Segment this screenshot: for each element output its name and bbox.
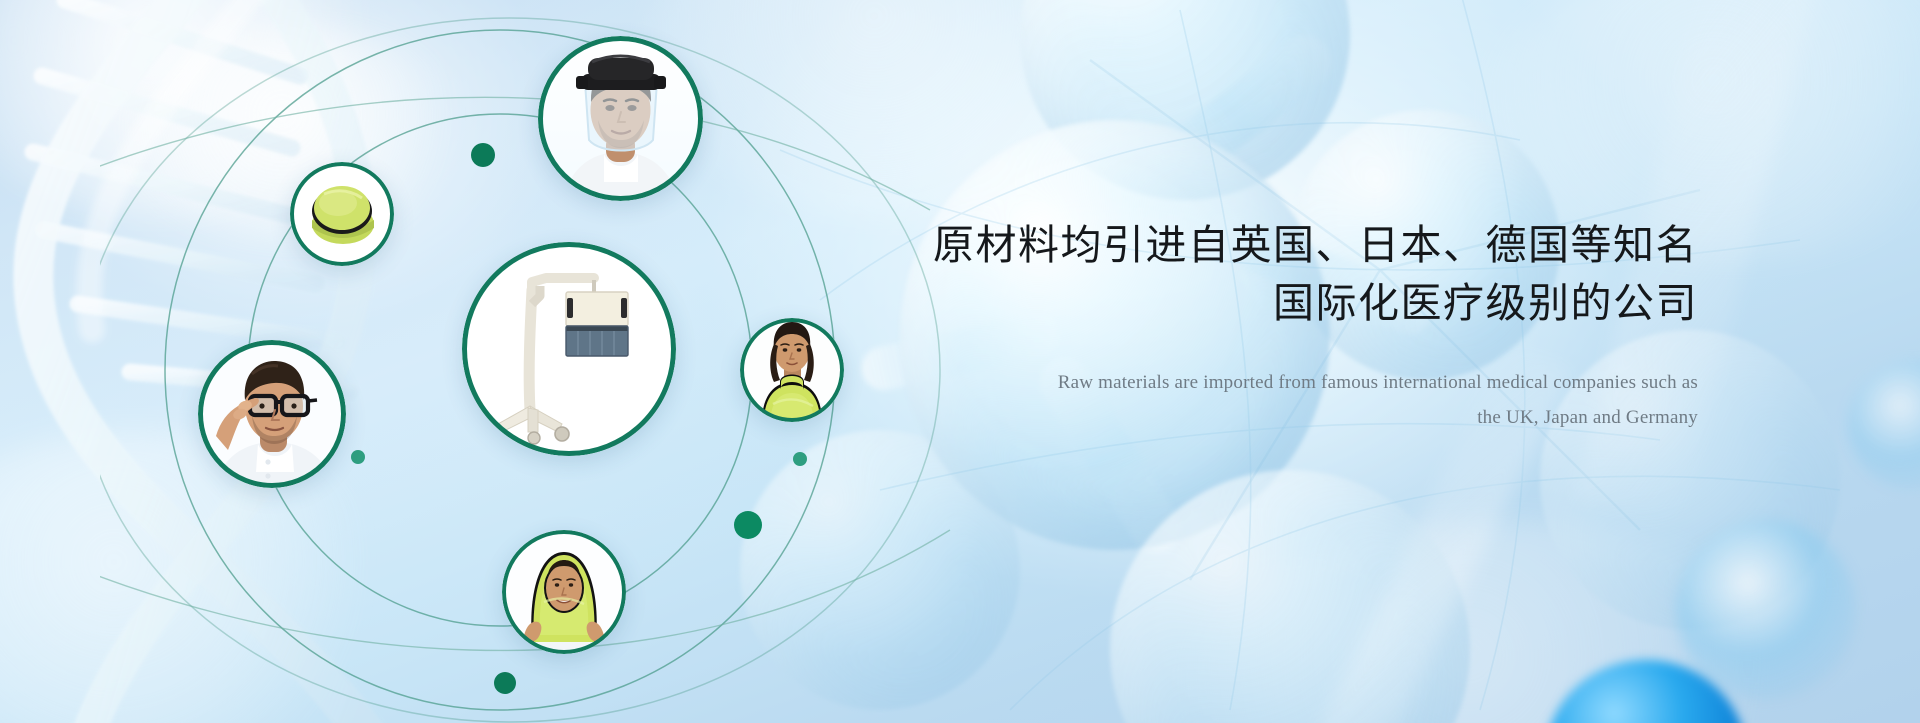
lead-glasses-photo-icon	[198, 340, 346, 488]
lead-hood-photo-icon	[502, 530, 626, 654]
face-shield-photo-icon	[538, 36, 703, 201]
orbit-node-top	[471, 143, 495, 167]
bubble-face-shield[interactable]	[538, 36, 703, 201]
bubble-lead-glasses[interactable]	[198, 340, 346, 488]
subtitle-line-2: the UK, Japan and Germany	[1477, 407, 1698, 428]
bubble-thyroid-collar[interactable]	[740, 318, 844, 422]
orbit-node-mid-right	[793, 452, 807, 466]
mobile-xray-screen-photo-icon	[462, 242, 676, 456]
banner-subtitle: Raw materials are imported from famous i…	[918, 366, 1698, 435]
bubble-lead-cap[interactable]	[290, 162, 394, 266]
thyroid-collar-photo-icon	[740, 318, 844, 422]
subtitle-line-1: Raw materials are imported from famous i…	[1058, 372, 1698, 393]
page-title: 原材料均引进自英国、日本、德国等知名 国际化医疗级别的公司	[918, 216, 1698, 332]
orbit-node-left	[351, 450, 365, 464]
banner-copy: 原材料均引进自英国、日本、德国等知名 国际化医疗级别的公司 Raw materi…	[918, 216, 1698, 436]
lead-cap-photo-icon	[290, 162, 394, 266]
headline-line-1: 原材料均引进自英国、日本、德国等知名	[933, 221, 1698, 269]
orbit-node-bottom	[494, 672, 516, 694]
orbit-node-right	[734, 511, 762, 539]
bubble-lead-hood[interactable]	[502, 530, 626, 654]
bubble-mobile-xray-screen[interactable]	[462, 242, 676, 456]
headline-line-2: 国际化医疗级别的公司	[918, 274, 1698, 332]
hero-banner: 原材料均引进自英国、日本、德国等知名 国际化医疗级别的公司 Raw materi…	[0, 0, 1920, 723]
